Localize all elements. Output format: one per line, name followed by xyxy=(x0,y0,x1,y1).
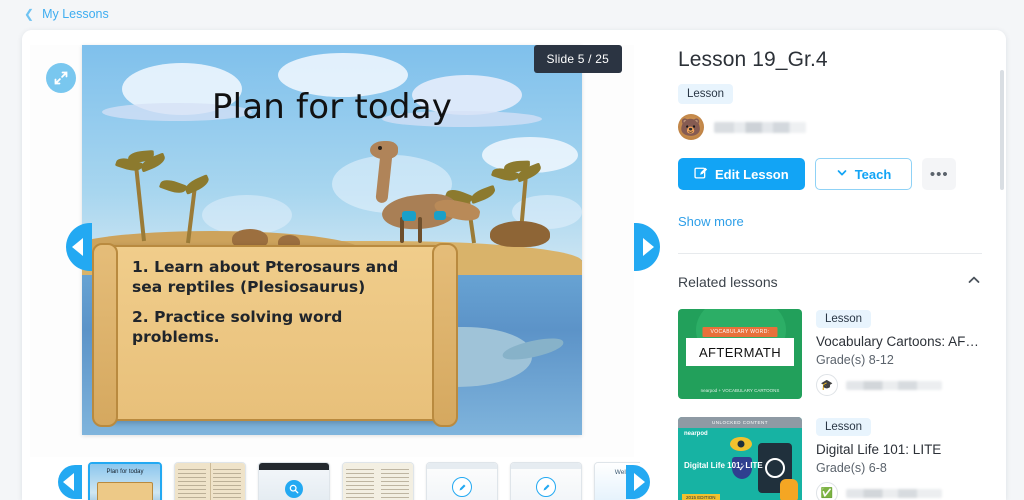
slide-counter-badge: Slide 5 / 25 xyxy=(534,45,622,73)
palm-leaves xyxy=(124,157,168,177)
palm-leaves xyxy=(168,179,212,199)
thumbnail-label: Plan for today xyxy=(90,469,160,475)
thumbnail-slide-5-draw[interactable]: Draw It xyxy=(426,462,498,500)
section-divider xyxy=(678,253,982,254)
slide-prev-button[interactable] xyxy=(66,223,92,271)
author-name-redacted xyxy=(714,122,806,133)
related-lesson-item-1[interactable]: VOCABULARY WORD: AFTERMATH nearpod + VOC… xyxy=(678,309,982,399)
slide-title: Plan for today xyxy=(82,87,582,127)
show-more-link[interactable]: Show more xyxy=(678,214,982,229)
video-icon xyxy=(285,480,303,498)
related-lesson-thumbnail: UNLOCKED CONTENT nearpod ✓ Digital Life … xyxy=(678,417,802,500)
chevron-left-icon xyxy=(63,473,74,491)
related-lesson-title[interactable]: Vocabulary Cartoons: AFTERMA... xyxy=(816,334,982,349)
chevron-left-icon: ❮ xyxy=(24,8,34,20)
panel-scrollbar[interactable] xyxy=(1000,70,1004,190)
check-avatar-icon: ✅ xyxy=(816,482,838,500)
slide-stage: Plan for today 1. Learn about Pterosaurs… xyxy=(30,45,634,457)
lesson-card: Plan for today 1. Learn about Pterosaurs… xyxy=(22,30,1006,500)
chevron-down-icon xyxy=(836,167,848,182)
chevron-right-icon xyxy=(634,473,645,491)
chevron-right-icon xyxy=(643,238,654,256)
slide-canvas[interactable]: Plan for today 1. Learn about Pterosaurs… xyxy=(82,45,582,435)
slide-bullet-1: 1. Learn about Pterosaurs and sea reptil… xyxy=(132,257,428,297)
action-buttons: Edit Lesson Teach ••• xyxy=(678,158,982,190)
slide-bullet-2: 2. Practice solving word problems. xyxy=(132,307,428,347)
thumbnail-slide-2[interactable] xyxy=(174,462,246,500)
slide-scroll: 1. Learn about Pterosaurs and sea reptil… xyxy=(108,245,442,421)
pencil-icon xyxy=(452,477,472,497)
thumbnail-slide-6-draw[interactable]: Draw It xyxy=(510,462,582,500)
expand-icon[interactable] xyxy=(46,63,76,93)
ellipsis-icon: ••• xyxy=(930,166,949,183)
breadcrumb-label[interactable]: My Lessons xyxy=(42,7,109,21)
status-badge: Lesson xyxy=(678,84,733,104)
related-author-redacted xyxy=(846,489,942,498)
thumbnail-slide-3-video[interactable]: Video xyxy=(258,462,330,500)
related-lesson-author: ✅ xyxy=(816,482,982,500)
thumbnail-list: Plan for today Video xyxy=(88,462,622,500)
lesson-details-panel: Lesson 19_Gr.4 Lesson 🐻 Edit Lesson xyxy=(640,30,1006,500)
thumbnail-word: AFTERMATH xyxy=(699,345,781,360)
related-lessons-title: Related lessons xyxy=(678,274,778,290)
related-lesson-grade: Grade(s) 6-8 xyxy=(816,461,982,475)
related-lesson-thumbnail: VOCABULARY WORD: AFTERMATH nearpod + VOC… xyxy=(678,309,802,399)
related-lesson-author: 🎓 xyxy=(816,374,982,396)
rock-shape xyxy=(490,221,550,247)
teach-label: Teach xyxy=(855,167,892,182)
related-lesson-badge: Lesson xyxy=(816,310,871,328)
related-lesson-grade: Grade(s) 8-12 xyxy=(816,353,982,367)
bear-avatar-icon: 🐻 xyxy=(678,114,704,140)
pencil-square-icon xyxy=(694,166,708,183)
breadcrumb[interactable]: ❮ My Lessons xyxy=(24,3,109,25)
related-lessons-header: Related lessons xyxy=(678,272,982,291)
thumbnail-brand: nearpod xyxy=(684,431,708,437)
thumbnail-slide-4[interactable] xyxy=(342,462,414,500)
chevron-left-icon xyxy=(72,238,83,256)
pencil-icon xyxy=(536,477,556,497)
thumbnail-banner: UNLOCKED CONTENT xyxy=(678,417,802,428)
palm-leaves xyxy=(500,167,544,187)
thumbnail-slide-1[interactable]: Plan for today xyxy=(88,462,162,500)
more-options-button[interactable]: ••• xyxy=(922,158,956,190)
related-lesson-title[interactable]: Digital Life 101: LITE xyxy=(816,442,982,457)
thumbnail-tag: VOCABULARY WORD: xyxy=(702,327,777,337)
edit-lesson-label: Edit Lesson xyxy=(715,167,789,182)
page-title: Lesson 19_Gr.4 xyxy=(678,48,982,72)
thumbnail-word: Digital Life 101: LITE xyxy=(684,461,763,470)
thumbnail-edition: 2015 EDITION xyxy=(682,494,720,500)
related-author-redacted xyxy=(846,381,942,390)
thumbnail-strip: Plan for today Video xyxy=(22,462,640,500)
teach-button[interactable]: Teach xyxy=(815,158,913,190)
app-root: ❮ My Lessons xyxy=(0,0,1024,492)
badge-avatar-icon: 🎓 xyxy=(816,374,838,396)
related-lesson-item-2[interactable]: UNLOCKED CONTENT nearpod ✓ Digital Life … xyxy=(678,417,982,500)
slide-scroll-text: 1. Learn about Pterosaurs and sea reptil… xyxy=(132,257,428,357)
author-row: 🐻 xyxy=(678,114,982,140)
related-lesson-badge: Lesson xyxy=(816,418,871,436)
slide-player: Plan for today 1. Learn about Pterosaurs… xyxy=(22,30,640,500)
filmstrip-prev-button[interactable] xyxy=(58,465,82,499)
chevron-up-icon[interactable] xyxy=(966,272,982,291)
thumbnail-footer: nearpod + VOCABULARY CARTOONS xyxy=(678,388,802,393)
edit-lesson-button[interactable]: Edit Lesson xyxy=(678,158,805,190)
